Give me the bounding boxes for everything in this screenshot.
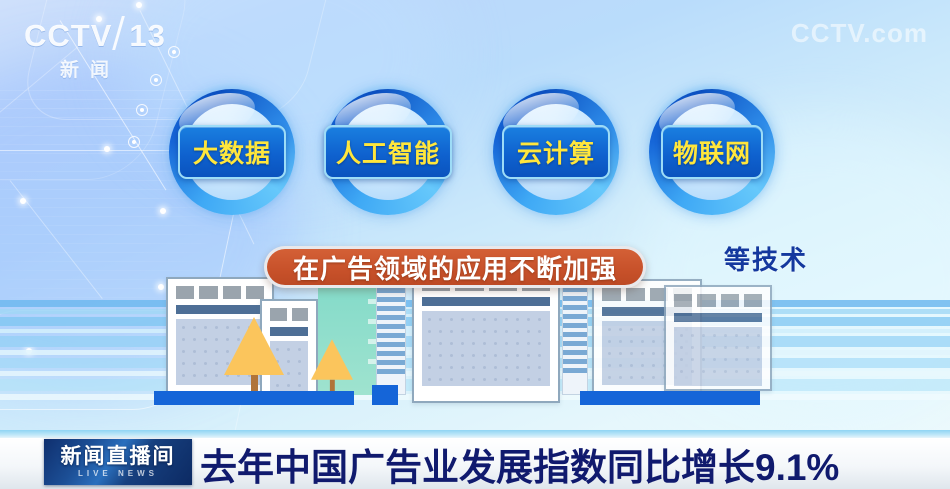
tech-badge-plate[interactable]: 物联网 xyxy=(661,125,763,179)
ground-slab xyxy=(580,391,760,405)
tech-badge-label: 人工智能 xyxy=(336,140,440,168)
etc-technologies-label: 等技术 xyxy=(724,240,808,277)
striped-building xyxy=(562,273,588,395)
orange-banner: 在广告领域的应用不断加强 xyxy=(264,246,646,288)
document-title-bar xyxy=(422,297,550,306)
tech-badge-label: 云计算 xyxy=(517,140,595,168)
tech-badge-label: 大数据 xyxy=(193,140,271,168)
document-building xyxy=(664,285,772,391)
tech-badge-plate[interactable]: 人工智能 xyxy=(324,125,452,179)
document-title-bar xyxy=(674,313,762,322)
tech-badge-iot[interactable]: 物联网 xyxy=(642,82,782,222)
program-logo-en: LIVE NEWS xyxy=(78,470,158,478)
tech-badge-group: 大数据 人工智能 云计算 物联网 xyxy=(0,0,950,230)
broadcast-screen: CCTV 13 新闻 CCTV.com xyxy=(0,0,950,489)
news-headline: 去年中国广告业发展指数同比增长9.1% xyxy=(200,440,839,488)
tech-badge-plate[interactable]: 云计算 xyxy=(502,125,610,179)
document-grid xyxy=(674,327,762,386)
ground-slab xyxy=(154,391,354,405)
tree-icon xyxy=(224,317,284,391)
node-dot-icon xyxy=(26,348,32,354)
tech-badge-big-data[interactable]: 大数据 xyxy=(162,82,302,222)
orange-banner-text: 在广告领域的应用不断加强 xyxy=(293,249,617,286)
tech-badge-plate[interactable]: 大数据 xyxy=(178,125,286,179)
document-building xyxy=(412,269,560,403)
document-header-row xyxy=(666,287,770,311)
document-title-bar xyxy=(176,305,264,314)
ground-slab xyxy=(372,385,398,405)
program-logo: 新闻直播间 LIVE NEWS xyxy=(44,439,192,485)
striped-building xyxy=(376,283,406,395)
document-grid xyxy=(422,311,550,386)
tech-badge-label: 物联网 xyxy=(673,140,751,168)
program-logo-zh: 新闻直播间 xyxy=(61,446,176,467)
tech-badge-cloud-computing[interactable]: 云计算 xyxy=(486,82,626,222)
tech-badge-ai[interactable]: 人工智能 xyxy=(318,82,458,222)
document-header-row xyxy=(168,279,272,303)
tree-icon xyxy=(311,339,353,391)
news-ticker: 新闻直播间 LIVE NEWS 去年中国广告业发展指数同比增长9.1% xyxy=(0,430,950,489)
